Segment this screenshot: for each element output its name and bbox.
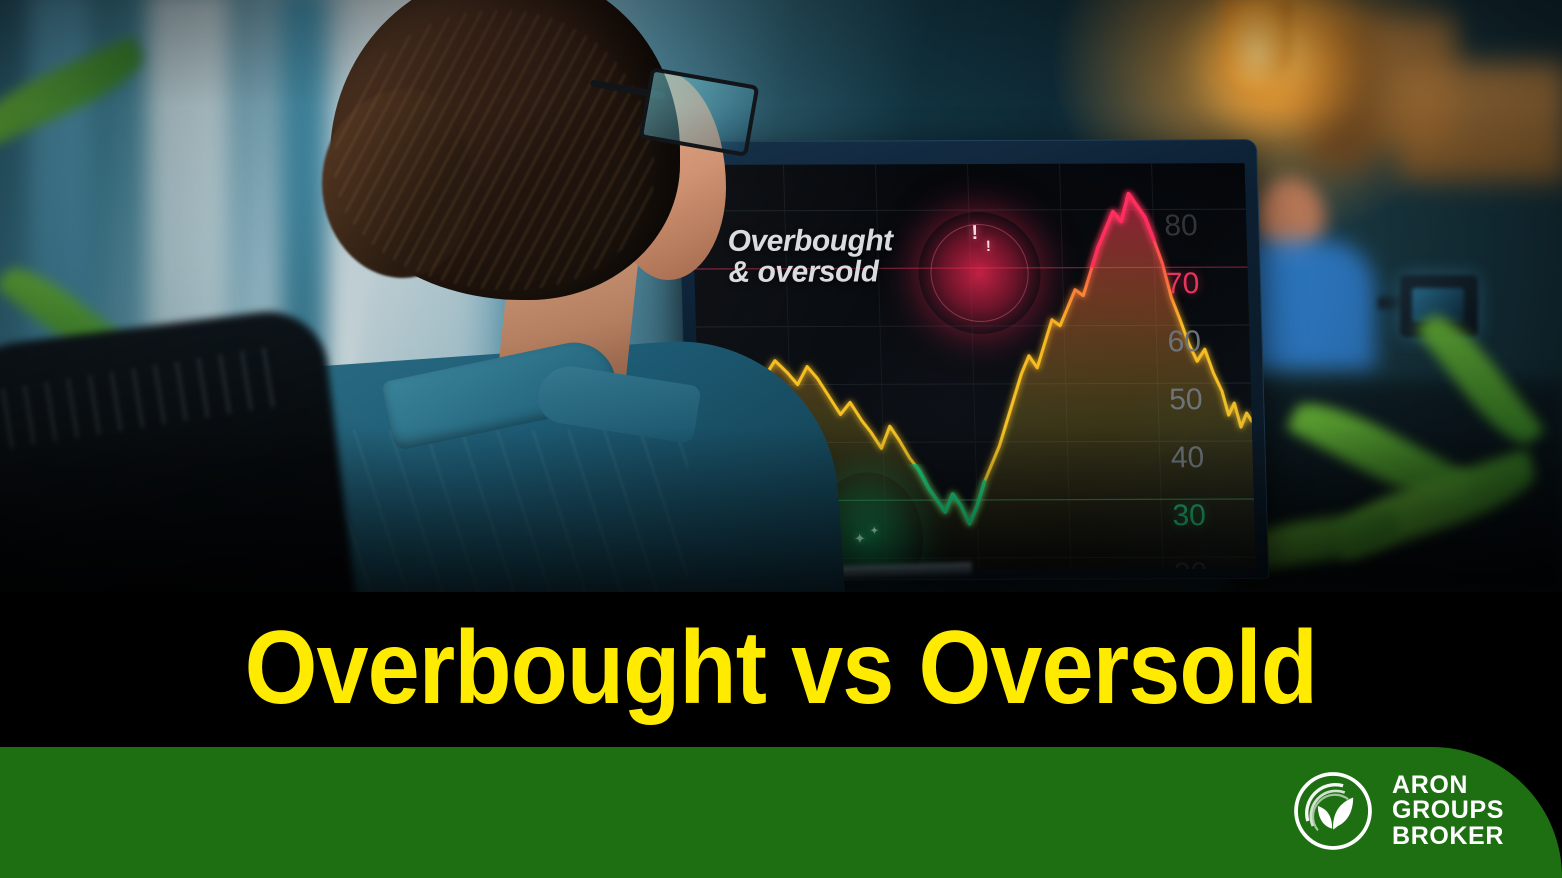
axis-tick-80: 80: [1164, 211, 1232, 269]
pendant-lamp: [1222, 0, 1292, 86]
title-banner: Overbought vs Oversold: [0, 592, 1562, 747]
poster-canvas: ✦ ✦ ! ! Overbought & oversold 80 70 60 5…: [0, 0, 1562, 878]
brand-line-3: BROKER: [1392, 824, 1504, 850]
brand-line-2: GROUPS: [1392, 798, 1504, 824]
brand-wordmark: ARON GROUPS BROKER: [1392, 773, 1504, 850]
axis-tick-50: 50: [1169, 385, 1237, 443]
axis-tick-40: 40: [1170, 443, 1238, 501]
oversold-spark-icon: ✦: [854, 530, 866, 547]
overbought-spark-icon: !: [971, 222, 978, 245]
axis-tick-70: 70: [1166, 269, 1234, 327]
shelf-blur: [1398, 62, 1562, 182]
aron-leaf-circle-icon: [1291, 769, 1375, 853]
chart-y-axis: 80 70 60 50 40 30 20: [1164, 211, 1241, 571]
axis-tick-30: 30: [1172, 501, 1240, 559]
brand-logo[interactable]: ARON GROUPS BROKER: [1291, 769, 1504, 853]
office-chair-foreground: [0, 305, 357, 592]
brand-line-1: ARON: [1392, 773, 1504, 799]
page-title: Overbought vs Oversold: [245, 616, 1317, 720]
brand-footer: ARON GROUPS BROKER: [0, 747, 1562, 878]
overbought-spark-icon: !: [986, 238, 991, 255]
hero-photo: ✦ ✦ ! ! Overbought & oversold 80 70 60 5…: [0, 0, 1562, 592]
axis-tick-60: 60: [1167, 327, 1235, 385]
oversold-spark-icon: ✦: [870, 524, 880, 537]
